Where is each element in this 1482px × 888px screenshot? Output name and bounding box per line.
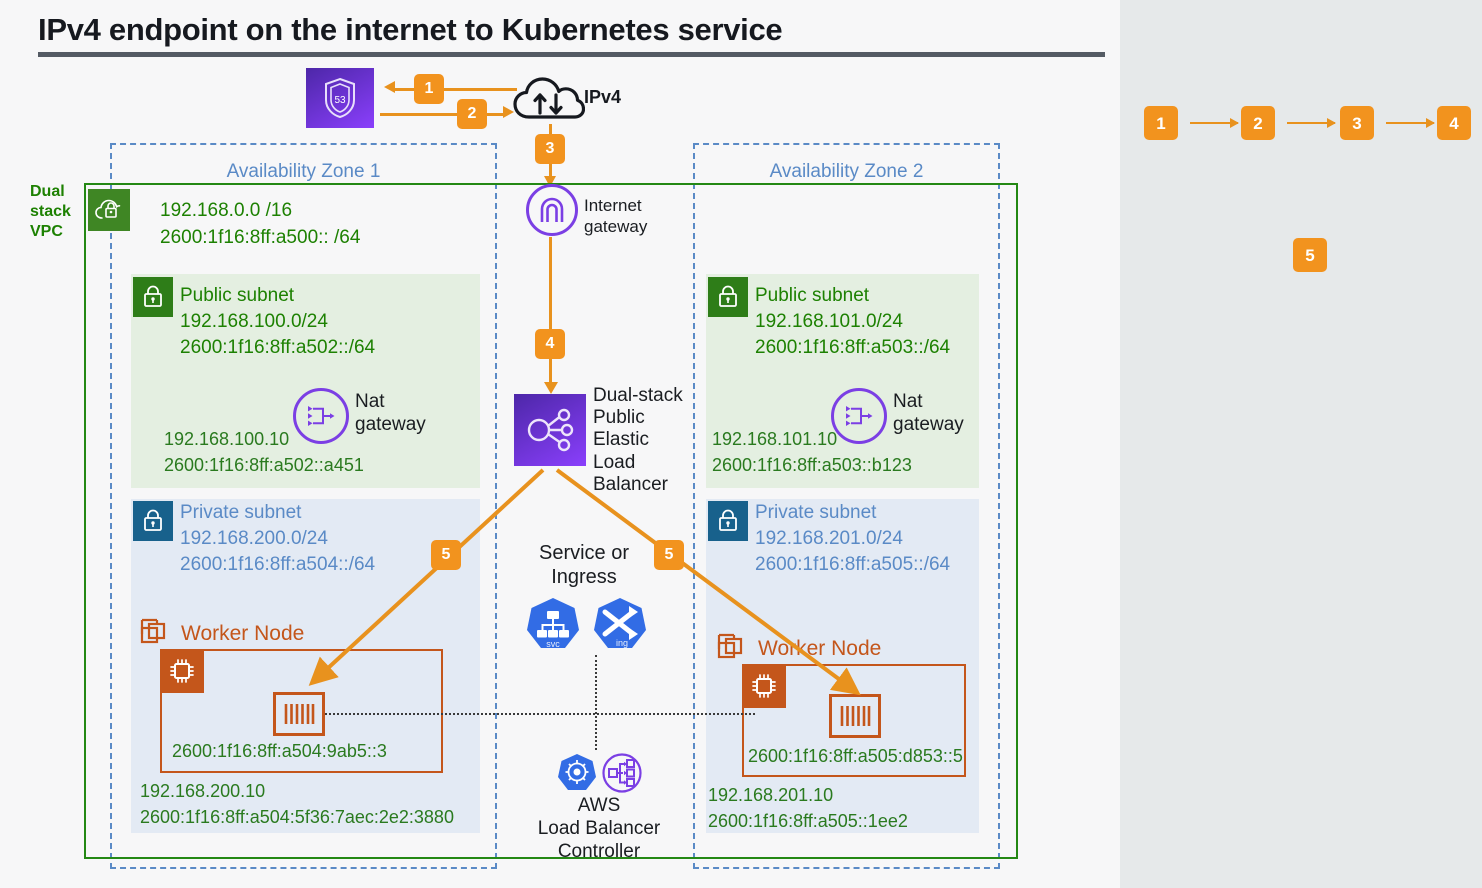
elb-label-line-4: Load xyxy=(593,452,689,474)
elastic-load-balancer-icon xyxy=(514,394,586,466)
worker-node-2-addresses: 192.168.201.10 2600:1f16:8ff:a505::1ee2 xyxy=(708,783,908,834)
nat-gateway-2-label-line1: Nat xyxy=(893,391,964,414)
pod-to-pod-dotted-connector xyxy=(325,713,755,715)
service-title-line1: Service or xyxy=(500,542,668,566)
private-subnet-2-title: Private subnet xyxy=(755,500,950,526)
nat-gateway-1-addr-v6: 2600:1f16:8ff:a502::a451 xyxy=(164,453,364,479)
nat-gateway-1-addresses: 192.168.100.10 2600:1f16:8ff:a502::a451 xyxy=(164,427,364,478)
worker-node-2-pod-address: 2600:1f16:8ff:a505:d853::5 xyxy=(748,746,963,767)
private-subnet-2-cidr-v6: 2600:1f16:8ff:a505::/64 xyxy=(755,552,950,578)
svc-icon-label: svc xyxy=(546,639,560,649)
internet-gateway-label: Internet gateway xyxy=(584,195,647,238)
legend-arrow-2-3 xyxy=(1287,122,1335,124)
compute-chip-icon xyxy=(742,664,786,708)
route-53-icon: 53 xyxy=(306,68,374,128)
lock-icon xyxy=(133,277,173,317)
service-to-controller-dotted-connector xyxy=(595,655,597,750)
flow-badge-4: 4 xyxy=(535,329,565,359)
public-subnet-1-header: Public subnet 192.168.100.0/24 2600:1f16… xyxy=(180,283,375,362)
lock-icon xyxy=(708,277,748,317)
worker-node-icon xyxy=(717,633,751,668)
worker-node-2-title: Worker Node xyxy=(758,637,881,661)
albc-label-line-1: AWS xyxy=(521,795,677,818)
public-subnet-2-title: Public subnet xyxy=(755,283,950,309)
albc-label-line-3: Controller xyxy=(521,841,677,864)
elb-label-line-5: Balancer xyxy=(593,474,689,496)
nat-gateway-2-addresses: 192.168.101.10 2600:1f16:8ff:a503::b123 xyxy=(712,427,912,478)
vpc-cidr-v6: 2600:1f16:8ff:a500:: /64 xyxy=(160,225,360,252)
lock-icon xyxy=(133,501,173,541)
legend-badge-4: 4 xyxy=(1437,106,1471,140)
legend-arrow-1-2 xyxy=(1190,122,1238,124)
lock-icon xyxy=(708,501,748,541)
vpc-cloud-lock-icon xyxy=(88,189,130,231)
elb-label-line-2: Public xyxy=(593,407,689,429)
worker-node-1-addr-v4: 192.168.200.10 xyxy=(140,779,454,805)
availability-zone-2-label: Availability Zone 2 xyxy=(693,161,1000,183)
worker-node-1-addr-v6: 2600:1f16:8ff:a504:5f36:7aec:2e2:3880 xyxy=(140,805,454,831)
worker-node-icon xyxy=(140,618,174,653)
svg-text:53: 53 xyxy=(334,95,346,106)
nat-gateway-1-label-line1: Nat xyxy=(355,391,426,414)
nat-gateway-1-addr-v4: 192.168.100.10 xyxy=(164,427,364,453)
page-title: IPv4 endpoint on the internet to Kuberne… xyxy=(38,12,1098,48)
private-subnet-2-cidr-v4: 192.168.201.0/24 xyxy=(755,526,950,552)
private-subnet-2-header: Private subnet 192.168.201.0/24 2600:1f1… xyxy=(755,500,950,579)
nat-gateway-1-label-line2: gateway xyxy=(355,414,426,437)
flow-arrowhead-1 xyxy=(384,81,395,93)
service-title-line2: Ingress xyxy=(500,566,668,590)
public-subnet-2-cidr-v6: 2600:1f16:8ff:a503::/64 xyxy=(755,335,950,361)
title-underline-rule xyxy=(38,52,1105,57)
legend-badge-2: 2 xyxy=(1241,106,1275,140)
nat-gateway-2-addr-v4: 192.168.101.10 xyxy=(712,427,912,453)
nat-gateway-2-addr-v6: 2600:1f16:8ff:a503::b123 xyxy=(712,453,912,479)
kubernetes-ingress-icon: ing xyxy=(591,596,649,659)
legend-badge-3: 3 xyxy=(1340,106,1374,140)
aws-load-balancer-controller-icon xyxy=(601,752,643,799)
kubernetes-icons-row: svc ing xyxy=(524,596,648,659)
aws-load-balancer-controller-icons xyxy=(556,752,632,799)
private-subnet-1-cidr-v6: 2600:1f16:8ff:a504::/64 xyxy=(180,552,375,578)
igw-label-line1: Internet xyxy=(584,195,647,216)
albc-label-line-2: Load Balancer xyxy=(521,818,677,841)
aws-load-balancer-controller-label: AWS Load Balancer Controller xyxy=(521,795,677,863)
compute-chip-icon xyxy=(160,649,204,693)
private-subnet-1-cidr-v4: 192.168.200.0/24 xyxy=(180,526,375,552)
flow-badge-1: 1 xyxy=(414,74,444,104)
nat-gateway-1-label: Nat gateway xyxy=(355,391,426,437)
pod-icon xyxy=(273,692,325,736)
elb-label-line-1: Dual-stack xyxy=(593,385,689,407)
public-subnet-2-header: Public subnet 192.168.101.0/24 2600:1f16… xyxy=(755,283,950,362)
public-subnet-1-title: Public subnet xyxy=(180,283,375,309)
elastic-load-balancer-label: Dual-stack Public Elastic Load Balancer xyxy=(593,385,689,496)
vpc-cidr-block: 192.168.0.0 /16 2600:1f16:8ff:a500:: /64 xyxy=(160,198,360,252)
kubernetes-helm-icon xyxy=(556,752,598,799)
legend-badge-1: 1 xyxy=(1144,106,1178,140)
flow-line-1 xyxy=(392,88,517,91)
service-or-ingress-title: Service or Ingress xyxy=(500,542,668,589)
ipv4-protocol-label: IPv4 xyxy=(584,87,621,108)
flow-arrowhead-4 xyxy=(544,382,558,394)
vpc-cidr-v4: 192.168.0.0 /16 xyxy=(160,198,360,225)
internet-gateway-icon xyxy=(526,184,578,236)
legend-ipv6-title: IPv6 flow xyxy=(1120,199,1482,222)
legend-arrow-3-4 xyxy=(1386,122,1434,124)
private-subnet-1-header: Private subnet 192.168.200.0/24 2600:1f1… xyxy=(180,500,375,579)
flow-arrowhead-2 xyxy=(503,106,514,118)
internet-cloud-icon xyxy=(513,73,585,125)
legend-badge-5: 5 xyxy=(1293,238,1327,272)
igw-label-line2: gateway xyxy=(584,216,647,237)
kubernetes-service-icon: svc xyxy=(524,596,582,659)
worker-node-2-addr-v4: 192.168.201.10 xyxy=(708,783,908,809)
legend-ipv4-title: IPv4 flow xyxy=(1120,62,1482,85)
private-subnet-1-title: Private subnet xyxy=(180,500,375,526)
elb-label-line-3: Elastic xyxy=(593,429,689,451)
worker-node-1-title: Worker Node xyxy=(181,622,304,646)
ing-icon-label: ing xyxy=(616,638,628,648)
public-subnet-1-cidr-v6: 2600:1f16:8ff:a502::/64 xyxy=(180,335,375,361)
flow-badge-5-left: 5 xyxy=(431,540,461,570)
flow-badge-3: 3 xyxy=(535,134,565,164)
public-subnet-1-cidr-v4: 192.168.100.0/24 xyxy=(180,309,375,335)
flow-badge-2: 2 xyxy=(457,99,487,129)
worker-node-1-pod-address: 2600:1f16:8ff:a504:9ab5::3 xyxy=(172,741,387,762)
public-subnet-2-cidr-v4: 192.168.101.0/24 xyxy=(755,309,950,335)
vpc-label: Dual stack VPC xyxy=(30,182,90,242)
flow-line-4 xyxy=(549,237,552,385)
availability-zone-1-label: Availability Zone 1 xyxy=(110,161,497,183)
pod-icon xyxy=(829,694,881,738)
worker-node-1-addresses: 192.168.200.10 2600:1f16:8ff:a504:5f36:7… xyxy=(140,779,454,830)
worker-node-2-addr-v6: 2600:1f16:8ff:a505::1ee2 xyxy=(708,809,908,835)
